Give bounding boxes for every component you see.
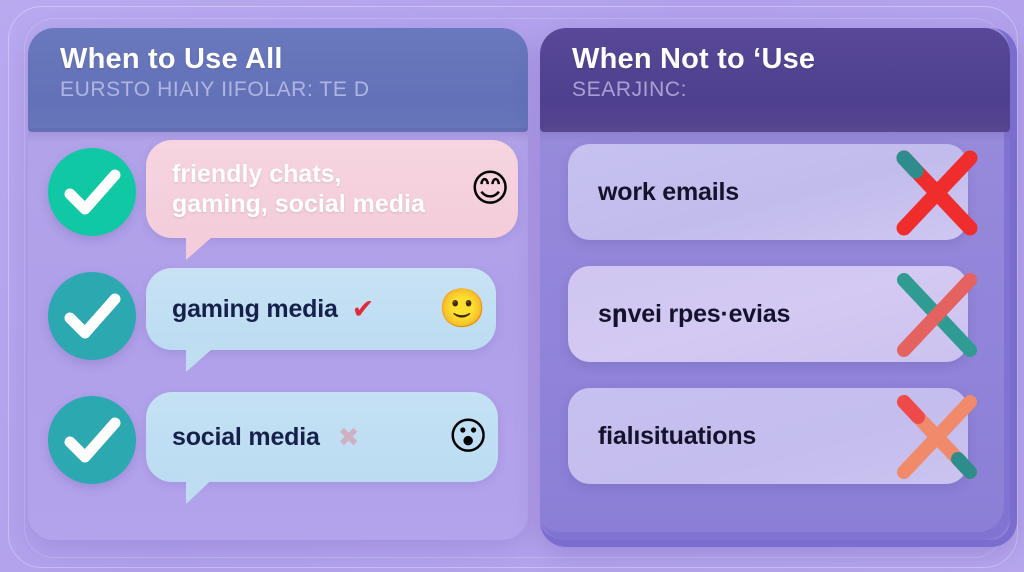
left-panel-title: When to Use All xyxy=(60,44,528,76)
cross-mark-icon xyxy=(878,262,990,366)
right-panel-subtitle: SEARJINC: xyxy=(572,78,1010,101)
when-not-to-use-panel: When Not to ‘Use SEARJINC: work emails xyxy=(540,28,1017,547)
list-item-label: sրvei rpes·evias xyxy=(598,299,790,329)
list-item-card: fialısituations xyxy=(568,388,968,484)
list-item[interactable]: sրvei rpes·evias xyxy=(540,254,1010,376)
slightly-smiling-face-icon: 🙂 xyxy=(435,290,486,328)
faint-x-icon: ✖ xyxy=(338,422,360,453)
list-item[interactable]: friendly chats, gaming, social media 😊 xyxy=(28,132,528,256)
red-check-icon: ✔ xyxy=(352,294,375,325)
list-item-label: fialısituations xyxy=(598,422,756,451)
check-circle-icon xyxy=(48,396,136,484)
list-item-label: work emails xyxy=(598,178,739,207)
smiling-face-with-smiling-eyes-icon: 😊 xyxy=(466,170,510,208)
list-item[interactable]: work emails xyxy=(540,132,1010,254)
check-circle-icon xyxy=(48,148,136,236)
right-panel-title: When Not to ‘Use xyxy=(572,44,1010,76)
speech-bubble: social media ✖ 😮 xyxy=(146,392,498,482)
check-circle-icon xyxy=(48,272,136,360)
list-item-label: gaming media xyxy=(172,295,338,324)
left-panel-subtitle: EURSTO HIAIY IIFOLAR: TE D xyxy=(60,78,528,101)
bubble-tail xyxy=(186,472,220,504)
list-item[interactable]: social media ✖ 😮 xyxy=(28,380,528,504)
list-item-label-line1: friendly chats, xyxy=(172,159,466,190)
list-item-card: sրvei rpes·evias xyxy=(568,266,968,362)
list-item-card: work emails xyxy=(568,144,968,240)
list-item[interactable]: fialısituations xyxy=(540,376,1010,498)
list-item-label-line2: gaming, social media xyxy=(172,189,466,220)
left-panel-header: When to Use All EURSTO HIAIY IIFOLAR: TE… xyxy=(28,28,528,132)
speech-bubble: gaming media ✔ 🙂 xyxy=(146,268,496,350)
infographic-canvas: When to Use All EURSTO HIAIY IIFOLAR: TE… xyxy=(0,0,1024,572)
right-rows-list: work emails sրvei rpes·evias xyxy=(540,132,1010,498)
cross-mark-icon xyxy=(878,140,990,244)
right-panel-header: When Not to ‘Use SEARJINC: xyxy=(540,28,1010,132)
cross-mark-icon xyxy=(878,384,990,488)
bubble-tail xyxy=(186,342,220,372)
list-item-label: social media xyxy=(172,423,320,452)
list-item-label: friendly chats, gaming, social media xyxy=(172,159,466,220)
when-to-use-panel: When to Use All EURSTO HIAIY IIFOLAR: TE… xyxy=(28,28,528,540)
list-item[interactable]: gaming media ✔ 🙂 xyxy=(28,256,528,380)
speech-bubble: friendly chats, gaming, social media 😊 xyxy=(146,140,518,238)
face-with-open-mouth-icon: 😮 xyxy=(444,418,488,456)
left-rows-list: friendly chats, gaming, social media 😊 g… xyxy=(28,132,528,504)
